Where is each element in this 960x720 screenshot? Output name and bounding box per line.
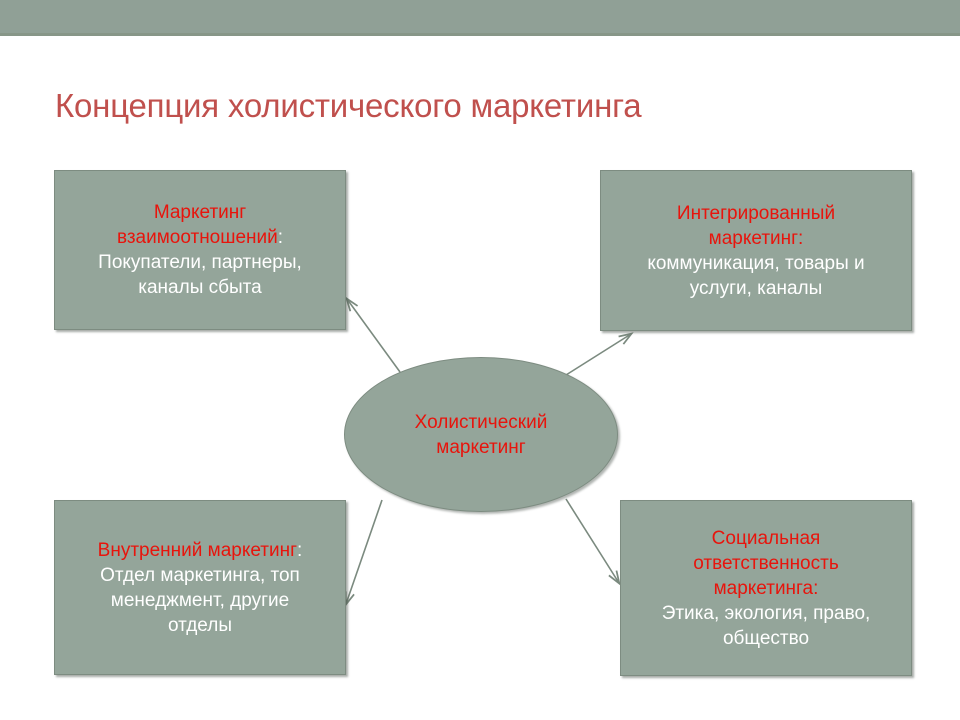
node-integrated-marketing[interactable]: Интегрированный маркетинг: коммуникация,…	[600, 170, 912, 331]
node-heading-text: Внутренний маркетинг	[98, 540, 297, 561]
node-body-line: Покупатели, партнеры,	[98, 250, 302, 275]
node-heading-line: взаимоотношений:	[117, 225, 283, 250]
center-label-line: Холистический	[415, 410, 548, 435]
node-heading-line: Внутренний маркетинг:	[98, 538, 303, 563]
node-body-line: коммуникация, товары и	[647, 251, 864, 276]
center-label-line: маркетинг	[436, 435, 525, 460]
node-heading-line: ответственность	[693, 551, 838, 576]
node-heading-line: Социальная	[712, 526, 821, 551]
node-body-line: отделы	[168, 613, 232, 638]
arrow-center-to-social-responsibility-marketing	[566, 499, 619, 583]
slide-header-underline	[0, 33, 960, 36]
node-body-line: услуги, каналы	[690, 276, 823, 301]
node-body-line: Этика, экология, право,	[662, 601, 871, 626]
node-holistic-marketing[interactable]: Холистический маркетинг	[344, 357, 618, 512]
arrow-center-to-integrated-marketing	[566, 334, 631, 375]
slide-header-bar	[0, 0, 960, 33]
slide-canvas: Концепция холистического маркетинга Марк…	[0, 0, 960, 720]
arrow-center-to-internal-marketing	[346, 500, 382, 604]
node-internal-marketing[interactable]: Внутренний маркетинг: Отдел маркетинга, …	[54, 500, 346, 675]
node-body-line: менеджмент, другие	[111, 588, 289, 613]
arrow-center-to-relationship-marketing	[347, 299, 400, 372]
node-body-line: общество	[723, 626, 809, 651]
node-body-line: Отдел маркетинга, топ	[100, 563, 300, 588]
node-heading-colon: :	[813, 578, 818, 599]
node-body-line: каналы сбыта	[138, 275, 261, 300]
node-heading-line: Маркетинг	[154, 200, 246, 225]
node-heading-colon: :	[278, 227, 283, 248]
node-heading-line: маркетинг:	[709, 226, 804, 251]
node-relationship-marketing[interactable]: Маркетинг взаимоотношений: Покупатели, п…	[54, 170, 346, 330]
node-heading-text: маркетинга	[714, 578, 814, 599]
node-heading-text: взаимоотношений	[117, 227, 278, 248]
node-heading-line: маркетинга:	[714, 576, 819, 601]
node-heading-colon: :	[297, 540, 302, 561]
page-title: Концепция холистического маркетинга	[55, 86, 915, 126]
node-heading-line: Интегрированный	[677, 201, 835, 226]
node-social-responsibility-marketing[interactable]: Социальная ответственность маркетинга: Э…	[620, 500, 912, 676]
